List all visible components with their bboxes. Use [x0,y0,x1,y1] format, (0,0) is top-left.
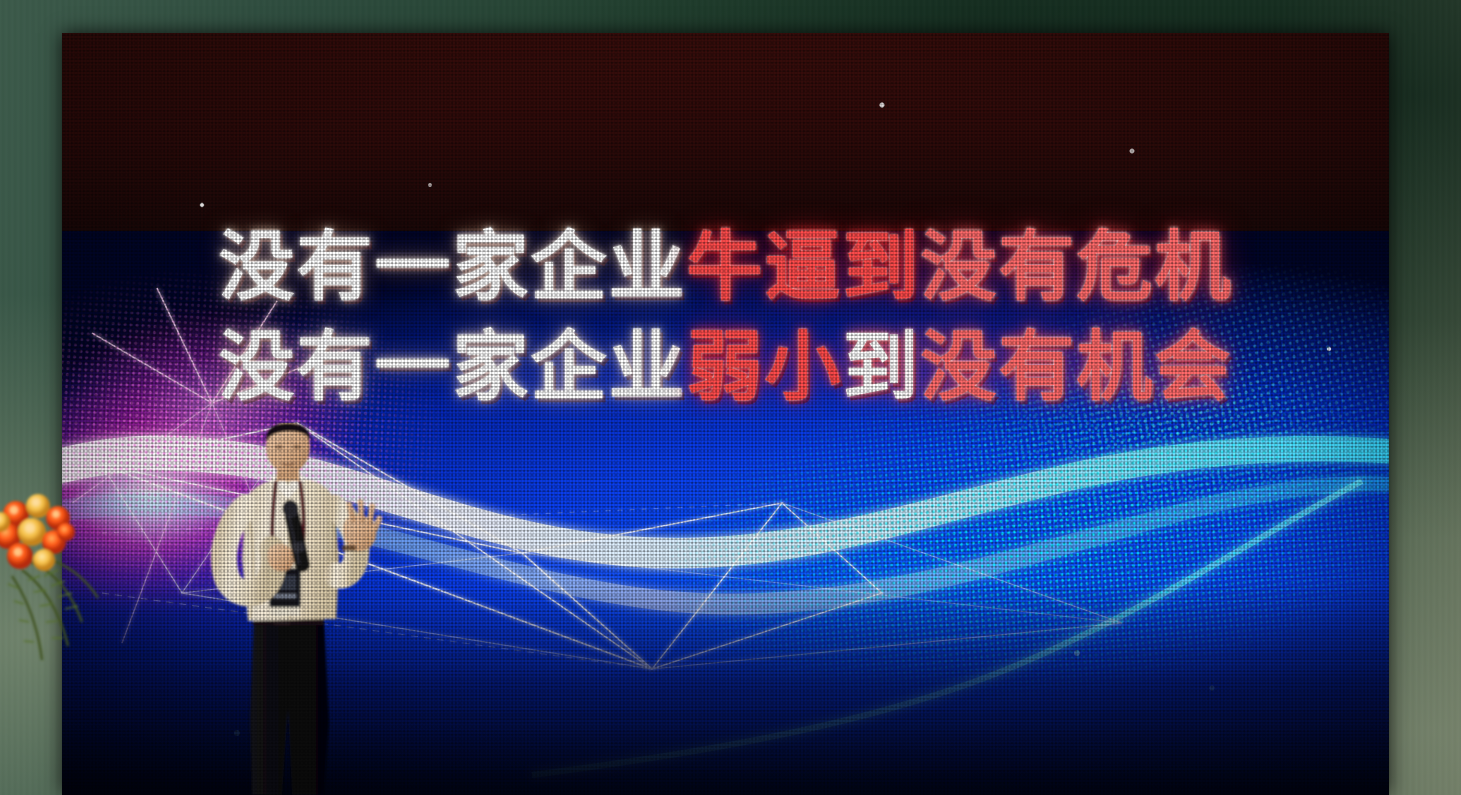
led-video-wall: 没有一家企业牛逼到没有危机 没有一家企业弱小到没有机会 [62,33,1389,795]
floral-arrangement [0,470,114,690]
led-pixel-dither [62,33,1389,795]
stage-scene: 没有一家企业牛逼到没有危机 没有一家企业弱小到没有机会 [0,0,1461,795]
